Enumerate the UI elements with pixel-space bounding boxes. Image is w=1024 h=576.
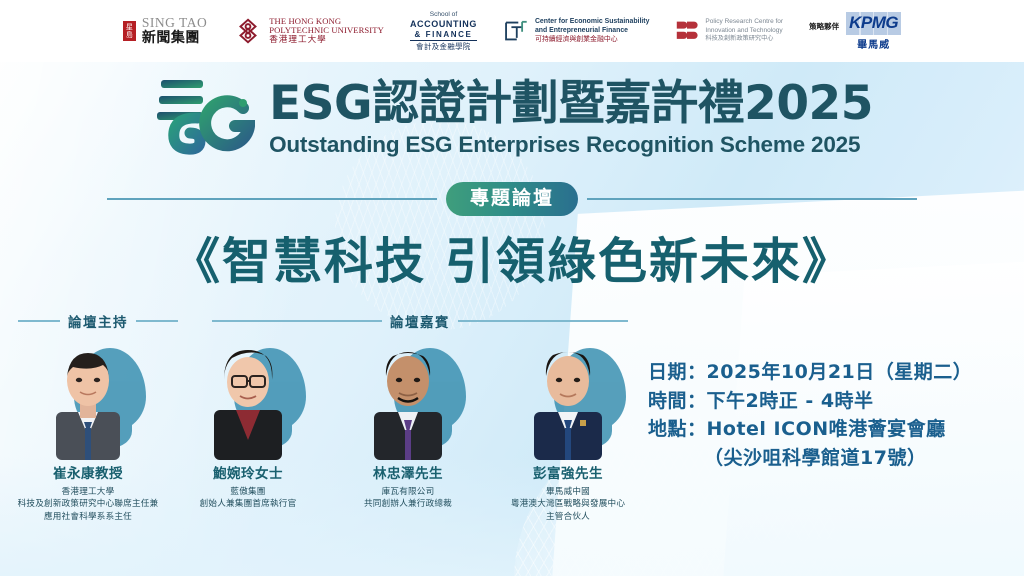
event-venue: 地點：Hotel ICON唯港薈宴會廳	[648, 415, 1020, 444]
badge-rule-right	[587, 198, 917, 199]
forum-theme-headline: 《智慧科技 引領綠色新未來》	[0, 222, 1024, 293]
cesef-line1: Center for Economic Sustainability	[535, 18, 649, 27]
person-portrait-icon	[514, 336, 622, 460]
sponsor-logo-bar: 星島 SING TAO 新聞集團 THE HONG KONG POLYTECHN…	[0, 0, 1024, 62]
page-subtitle: Outstanding ESG Enterprises Recognition …	[269, 132, 873, 158]
kpmg-wordmark-box: KPMG	[846, 12, 901, 35]
list-item: 鮑婉玲女士 藍傲集團 創始人兼集團首席執行官	[168, 336, 328, 511]
kpmg-logo: 策略夥伴 KPMG 畢馬威	[809, 12, 901, 51]
event-title-block: ESG認證計劃暨嘉許禮2025 Outstanding ESG Enterpri…	[0, 72, 1024, 164]
avatar	[348, 336, 468, 460]
prcit-logo: Policy Research Centre for Innovation an…	[675, 18, 783, 43]
prcit-line3-chinese: 科技及創新政策研究中心	[705, 35, 783, 43]
poster-canvas: 星島 SING TAO 新聞集團 THE HONG KONG POLYTECHN…	[0, 0, 1024, 576]
cesef-line3-chinese: 可持續經濟與創業金融中心	[535, 35, 649, 44]
polyu-logo: THE HONG KONG POLYTECHNIC UNIVERSITY 香港理…	[233, 16, 384, 46]
speaker-name: 鮑婉玲女士	[168, 466, 328, 483]
speaker-title: 香港理工大學 科技及創新政策研究中心聯席主任兼 應用社會科學系系主任	[8, 486, 168, 523]
forum-badge-row: 專題論壇	[0, 180, 1024, 218]
avatar	[188, 336, 308, 460]
sing-tao-chinese-name: 新聞集團	[142, 31, 207, 46]
sing-tao-logo: 星島 SING TAO 新聞集團	[123, 16, 207, 46]
person-portrait-icon	[34, 336, 142, 460]
speaker-name: 林忠澤先生	[328, 466, 488, 483]
person-portrait-icon	[354, 336, 462, 460]
speaker-name: 彭富強先生	[488, 466, 648, 483]
list-item: 林忠澤先生 庫瓦有限公司 共同創辦人兼行政總裁	[328, 336, 488, 511]
section-guests: 論壇嘉賓	[212, 311, 628, 331]
kpmg-partner-label: 策略夥伴	[809, 21, 839, 32]
sing-tao-english-name: SING TAO	[142, 16, 207, 31]
avatar	[28, 336, 148, 460]
page-title: ESG認證計劃暨嘉許禮2025	[269, 80, 873, 128]
section-host-label: 論壇主持	[60, 311, 136, 331]
speaker-list: 崔永康教授 香港理工大學 科技及創新政策研究中心聯席主任兼 應用社會科學系系主任	[8, 336, 648, 566]
section-guest-label: 論壇嘉賓	[382, 311, 458, 331]
prcit-emblem-icon	[675, 20, 699, 42]
polyu-emblem-icon	[233, 16, 263, 46]
event-date: 日期：2025年10月21日（星期二）	[648, 358, 1020, 387]
speaker-photo	[354, 336, 462, 460]
speaker-title: 庫瓦有限公司 共同創辦人兼行政總裁	[328, 486, 488, 511]
sing-tao-block-mark: 星島	[123, 21, 136, 41]
esg-logo-icon	[151, 72, 255, 164]
cesef-emblem-icon	[503, 19, 529, 43]
forum-badge: 專題論壇	[446, 182, 578, 216]
event-venue-address: （尖沙咀科學館道17號）	[648, 444, 1020, 473]
kpmg-chinese-name: 畢馬威	[846, 36, 901, 51]
event-time: 時間：下午2時正 - 4時半	[648, 387, 1020, 416]
guest-rule-left	[212, 320, 382, 321]
speaker-photo	[34, 336, 142, 460]
guest-rule-right	[458, 320, 628, 321]
cesef-logo: Center for Economic Sustainability and E…	[503, 18, 649, 45]
accounting-line2: ACCOUNTING	[410, 19, 477, 30]
polyu-name-chinese: 香港理工大學	[269, 36, 384, 45]
speaker-title: 畢馬威中國 粵港澳大灣區戰略與發展中心 主管合伙人	[488, 486, 648, 523]
accounting-line1: School of	[410, 11, 477, 19]
person-portrait-icon	[194, 336, 302, 460]
speaker-title: 藍傲集團 創始人兼集團首席執行官	[168, 486, 328, 511]
section-label-row: 論壇主持 論壇嘉賓	[0, 308, 640, 334]
section-host: 論壇主持	[18, 311, 178, 331]
speaker-name: 崔永康教授	[8, 466, 168, 483]
host-rule-right	[136, 320, 178, 321]
event-details-panel: 日期：2025年10月21日（星期二） 時間：下午2時正 - 4時半 地點：Ho…	[648, 358, 1020, 472]
accounting-line3: & FINANCE	[410, 30, 477, 42]
list-item: 彭富強先生 畢馬威中國 粵港澳大灣區戰略與發展中心 主管合伙人	[488, 336, 648, 523]
avatar	[508, 336, 628, 460]
accounting-line4-chinese: 會計及金融學院	[410, 42, 477, 51]
kpmg-wordmark: KPMG	[849, 13, 898, 32]
badge-rule-left	[107, 198, 437, 199]
school-of-accounting-finance-logo: School of ACCOUNTING & FINANCE 會計及金融學院	[410, 11, 477, 52]
host-rule-left	[18, 320, 60, 321]
speaker-photo	[194, 336, 302, 460]
prcit-line1: Policy Research Centre for	[705, 18, 783, 27]
list-item: 崔永康教授 香港理工大學 科技及創新政策研究中心聯席主任兼 應用社會科學系系主任	[8, 336, 168, 523]
speaker-photo	[514, 336, 622, 460]
